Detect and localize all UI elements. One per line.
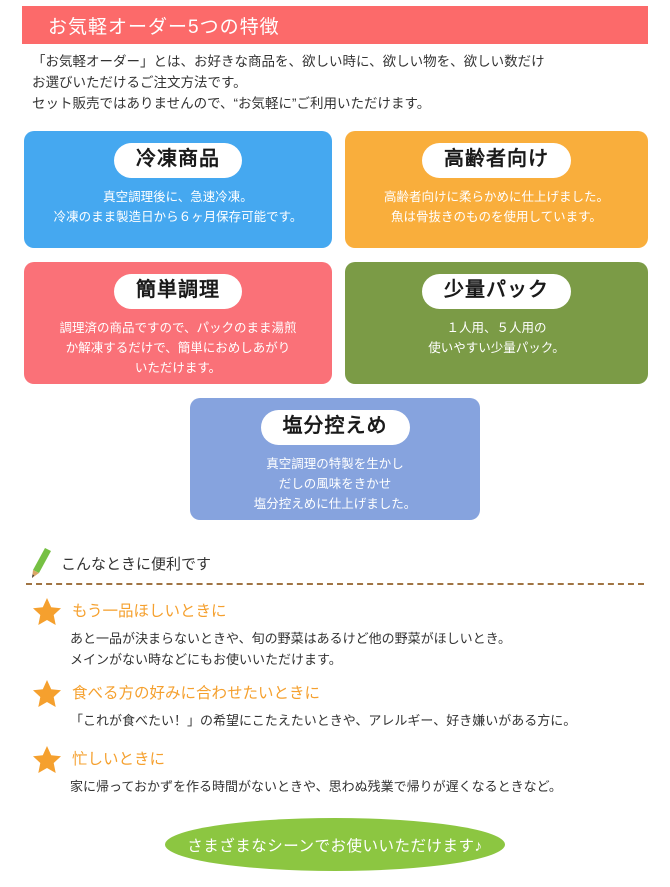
feature-card-description: 真空調理後に、急速冷凍。 冷凍のまま製造日から６ヶ月保存可能です。 bbox=[54, 187, 303, 227]
feature-card-title: 塩分控えめ bbox=[261, 410, 410, 445]
use-cases-heading: こんなときに便利です bbox=[30, 548, 211, 578]
feature-card-desc-line-3: いただけます。 bbox=[59, 358, 296, 378]
feature-card-description: 真空調理の特製を生かし だしの風味をきかせ 塩分控えめに仕上げました。 bbox=[254, 454, 417, 514]
list-item: 忙しいときに 家に帰っておかずを作る時間がないときや、思わぬ残業で帰りが遅くなる… bbox=[0, 746, 640, 797]
footer-callout: さまざまなシーンでお使いいただけます♪ bbox=[0, 818, 670, 871]
feature-card-desc-line-1: 真空調理の特製を生かし bbox=[254, 454, 417, 474]
feature-card-frozen: 冷凍商品 真空調理後に、急速冷凍。 冷凍のまま製造日から６ヶ月保存可能です。 bbox=[24, 131, 332, 248]
list-item-body: あと一品が決まらないときや、旬の野菜はあるけど他の野菜がほしいとき。 メインがな… bbox=[70, 628, 640, 670]
list-item-body: 家に帰っておかずを作る時間がないときや、思わぬ残業で帰りが遅くなるときなど。 bbox=[70, 776, 640, 797]
list-item-title: 食べる方の好みに合わせたいときに bbox=[72, 680, 320, 708]
list-item-body: 「これが食べたい！」の希望にこたえたいときや、アレルギー、好き嫌いがある方に。 bbox=[70, 710, 640, 731]
dashed-divider bbox=[26, 583, 644, 585]
star-icon bbox=[32, 679, 62, 708]
list-item-body-line-1: あと一品が決まらないときや、旬の野菜はあるけど他の野菜がほしいとき。 bbox=[70, 628, 640, 649]
star-icon bbox=[32, 745, 62, 774]
pencil-icon bbox=[30, 548, 52, 578]
feature-card-easy-cooking: 簡単調理 調理済の商品ですので、パックのまま湯煎 か解凍するだけで、簡単におめし… bbox=[24, 262, 332, 384]
list-item: 食べる方の好みに合わせたいときに 「これが食べたい！」の希望にこたえたいときや、… bbox=[0, 680, 640, 731]
use-cases-heading-label: こんなときに便利です bbox=[61, 553, 211, 574]
list-item-body-line-1: 「これが食べたい！」の希望にこたえたいときや、アレルギー、好き嫌いがある方に。 bbox=[70, 710, 640, 731]
feature-card-desc-line-1: 高齢者向けに柔らかめに仕上げました。 bbox=[384, 187, 609, 207]
list-item-header: 忙しいときに bbox=[32, 746, 640, 774]
feature-card-title: 高齢者向け bbox=[422, 143, 571, 178]
list-item-body-line-1: 家に帰っておかずを作る時間がないときや、思わぬ残業で帰りが遅くなるときなど。 bbox=[70, 776, 640, 797]
list-item-header: もう一品ほしいときに bbox=[32, 598, 640, 626]
list-item-title: 忙しいときに bbox=[72, 746, 165, 774]
list-item-header: 食べる方の好みに合わせたいときに bbox=[32, 680, 640, 708]
feature-card-description: 調理済の商品ですので、パックのまま湯煎 か解凍するだけで、簡単におめしあがり い… bbox=[59, 318, 296, 378]
feature-card-elderly: 高齢者向け 高齢者向けに柔らかめに仕上げました。 魚は骨抜きのものを使用していま… bbox=[345, 131, 648, 248]
footer-ellipse: さまざまなシーンでお使いいただけます♪ bbox=[165, 818, 505, 871]
feature-card-desc-line-1: １人用、５人用の bbox=[428, 318, 565, 338]
list-item: もう一品ほしいときに あと一品が決まらないときや、旬の野菜はあるけど他の野菜がほ… bbox=[0, 598, 640, 670]
feature-card-description: １人用、５人用の 使いやすい少量パック。 bbox=[428, 318, 565, 358]
feature-card-title: 少量パック bbox=[422, 274, 571, 309]
feature-page: お気軽オーダー5つの特徴 「お気軽オーダー」とは、お好きな商品を、欲しい時に、欲… bbox=[0, 0, 670, 887]
feature-card-desc-line-1: 真空調理後に、急速冷凍。 bbox=[54, 187, 303, 207]
feature-card-low-salt: 塩分控えめ 真空調理の特製を生かし だしの風味をきかせ 塩分控えめに仕上げました… bbox=[190, 398, 480, 520]
feature-card-description: 高齢者向けに柔らかめに仕上げました。 魚は骨抜きのものを使用しています。 bbox=[384, 187, 609, 227]
feature-card-desc-line-2: か解凍するだけで、簡単におめしあがり bbox=[59, 338, 296, 358]
feature-card-desc-line-2: 使いやすい少量パック。 bbox=[428, 338, 565, 358]
feature-card-desc-line-1: 調理済の商品ですので、パックのまま湯煎 bbox=[59, 318, 296, 338]
feature-card-desc-line-2: だしの風味をきかせ bbox=[254, 474, 417, 494]
feature-card-title: 冷凍商品 bbox=[114, 143, 242, 178]
feature-card-desc-line-2: 冷凍のまま製造日から６ヶ月保存可能です。 bbox=[54, 207, 303, 227]
feature-card-small-pack: 少量パック １人用、５人用の 使いやすい少量パック。 bbox=[345, 262, 648, 384]
feature-card-grid: 冷凍商品 真空調理後に、急速冷凍。 冷凍のまま製造日から６ヶ月保存可能です。 高… bbox=[0, 0, 670, 525]
feature-card-title: 簡単調理 bbox=[114, 274, 242, 309]
feature-card-desc-line-2: 魚は骨抜きのものを使用しています。 bbox=[384, 207, 609, 227]
footer-ellipse-label: さまざまなシーンでお使いいただけます♪ bbox=[187, 834, 482, 856]
star-icon bbox=[32, 597, 62, 626]
list-item-body-line-2: メインがない時などにもお使いいただけます。 bbox=[70, 649, 640, 670]
feature-card-desc-line-3: 塩分控えめに仕上げました。 bbox=[254, 494, 417, 514]
list-item-title: もう一品ほしいときに bbox=[72, 598, 227, 626]
